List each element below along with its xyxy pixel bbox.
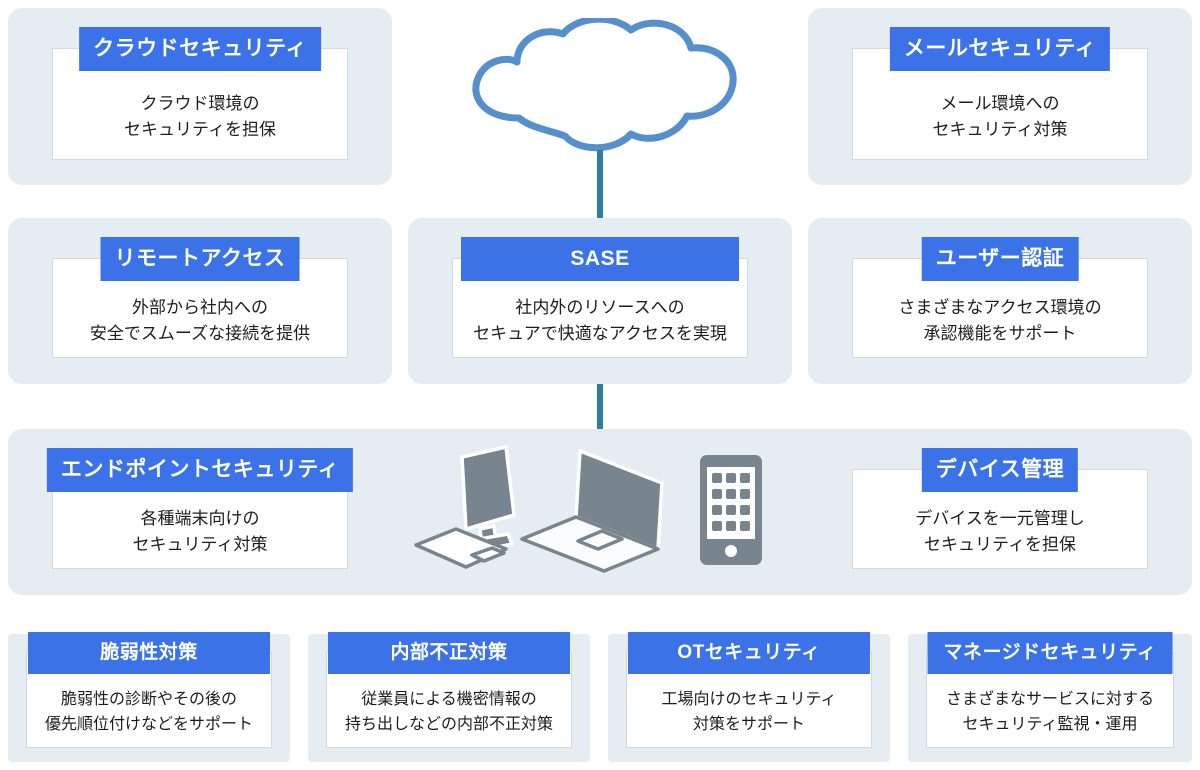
laptop-icon: [522, 451, 662, 571]
card-text-line: デバイスを一元管理し: [915, 506, 1085, 532]
card-device-management-header: デバイス管理: [922, 448, 1078, 492]
card-cloud-security[interactable]: クラウドセキュリティ クラウド環境の セキュリティを担保: [52, 48, 348, 160]
card-insider-threat-countermeasures-header: 内部不正対策: [328, 632, 570, 674]
card-sase[interactable]: SASE 社内外のリソースへの セキュアで快適なアクセスを実現: [452, 258, 748, 358]
card-user-authentication-header: ユーザー認証: [922, 237, 1079, 281]
card-remote-access-header: リモートアクセス: [101, 237, 300, 281]
card-sase-body: 社内外のリソースへの セキュアで快適なアクセスを実現: [453, 285, 747, 357]
card-cloud-security-header: クラウドセキュリティ: [79, 27, 321, 71]
card-remote-access[interactable]: リモートアクセス 外部から社内への 安全でスムーズな接続を提供: [52, 258, 348, 358]
card-device-management[interactable]: デバイス管理 デバイスを一元管理し セキュリティを担保: [852, 469, 1148, 569]
card-mail-security-body: メール環境への セキュリティ対策: [853, 75, 1147, 159]
card-device-management-body: デバイスを一元管理し セキュリティを担保: [853, 496, 1147, 568]
card-managed-security-body: さまざまなサービスに対する セキュリティ監視・運用: [927, 679, 1173, 747]
card-ot-security-body: 工場向けのセキュリティ 対策をサポート: [627, 679, 871, 747]
card-text-line: 従業員による機密情報の: [361, 688, 537, 713]
card-user-authentication-body: さまざまなアクセス環境の 承認機能をサポート: [853, 285, 1147, 357]
card-ot-security-header: OTセキュリティ: [628, 632, 870, 674]
card-text-line: セキュリティ監視・運用: [962, 713, 1137, 738]
card-mail-security-header: メールセキュリティ: [890, 27, 1110, 71]
connector-sase-to-endpoints: [597, 384, 603, 429]
card-vulnerability-countermeasures[interactable]: 脆弱性対策 脆弱性の診断やその後の 優先順位付けなどをサポート: [26, 652, 272, 748]
card-mail-security[interactable]: メールセキュリティ メール環境への セキュリティ対策: [852, 48, 1148, 160]
card-text-line: セキュリティを担保: [124, 117, 276, 143]
card-text-line: 持ち出しなどの内部不正対策: [345, 713, 553, 738]
card-user-authentication[interactable]: ユーザー認証 さまざまなアクセス環境の 承認機能をサポート: [852, 258, 1148, 358]
device-icon-group: [410, 445, 780, 575]
card-managed-security-header: マネージドセキュリティ: [928, 632, 1173, 674]
card-remote-access-body: 外部から社内への 安全でスムーズな接続を提供: [53, 285, 347, 357]
security-architecture-diagram: クラウドセキュリティ クラウド環境の セキュリティを担保 メールセキュリティ メ…: [0, 0, 1200, 770]
card-text-line: 優先順位付けなどをサポート: [45, 713, 253, 738]
card-text-line: 安全でスムーズな接続を提供: [90, 321, 310, 347]
card-managed-security[interactable]: マネージドセキュリティ さまざまなサービスに対する セキュリティ監視・運用: [926, 652, 1174, 748]
card-text-line: さまざまなサービスに対する: [946, 688, 1154, 713]
card-text-line: セキュリティ対策: [133, 532, 268, 558]
card-insider-threat-countermeasures[interactable]: 内部不正対策 従業員による機密情報の 持ち出しなどの内部不正対策: [326, 652, 572, 748]
card-ot-security[interactable]: OTセキュリティ 工場向けのセキュリティ 対策をサポート: [626, 652, 872, 748]
card-text-line: 工場向けのセキュリティ: [661, 688, 836, 713]
card-text-line: 承認機能をサポート: [924, 321, 1077, 347]
connector-cloud-to-sase: [597, 150, 603, 218]
card-text-line: 社内外のリソースへの: [515, 295, 684, 321]
card-vulnerability-countermeasures-body: 脆弱性の診断やその後の 優先順位付けなどをサポート: [27, 679, 271, 747]
card-endpoint-security-header: エンドポイントセキュリティ: [47, 448, 353, 492]
card-endpoint-security[interactable]: エンドポイントセキュリティ 各種端末向けの セキュリティ対策: [52, 469, 348, 569]
card-endpoint-security-body: 各種端末向けの セキュリティ対策: [53, 496, 347, 568]
card-text-line: 各種端末向けの: [141, 506, 260, 532]
card-text-line: 外部から社内への: [132, 295, 268, 321]
smartphone-icon: [700, 455, 762, 565]
card-sase-header: SASE: [461, 237, 739, 281]
card-text-line: クラウド環境の: [141, 91, 260, 117]
card-text-line: さまざまなアクセス環境の: [898, 295, 1101, 321]
card-text-line: セキュアで快適なアクセスを実現: [473, 321, 727, 347]
card-text-line: メール環境への: [941, 91, 1060, 117]
card-cloud-security-body: クラウド環境の セキュリティを担保: [53, 75, 347, 159]
card-insider-threat-countermeasures-body: 従業員による機密情報の 持ち出しなどの内部不正対策: [327, 679, 571, 747]
card-text-line: 脆弱性の診断やその後の: [61, 688, 237, 713]
card-vulnerability-countermeasures-header: 脆弱性対策: [28, 632, 270, 674]
cloud-icon: [455, 18, 755, 168]
card-text-line: セキュリティを担保: [924, 532, 1076, 558]
card-text-line: 対策をサポート: [693, 713, 805, 738]
card-text-line: セキュリティ対策: [933, 117, 1068, 143]
